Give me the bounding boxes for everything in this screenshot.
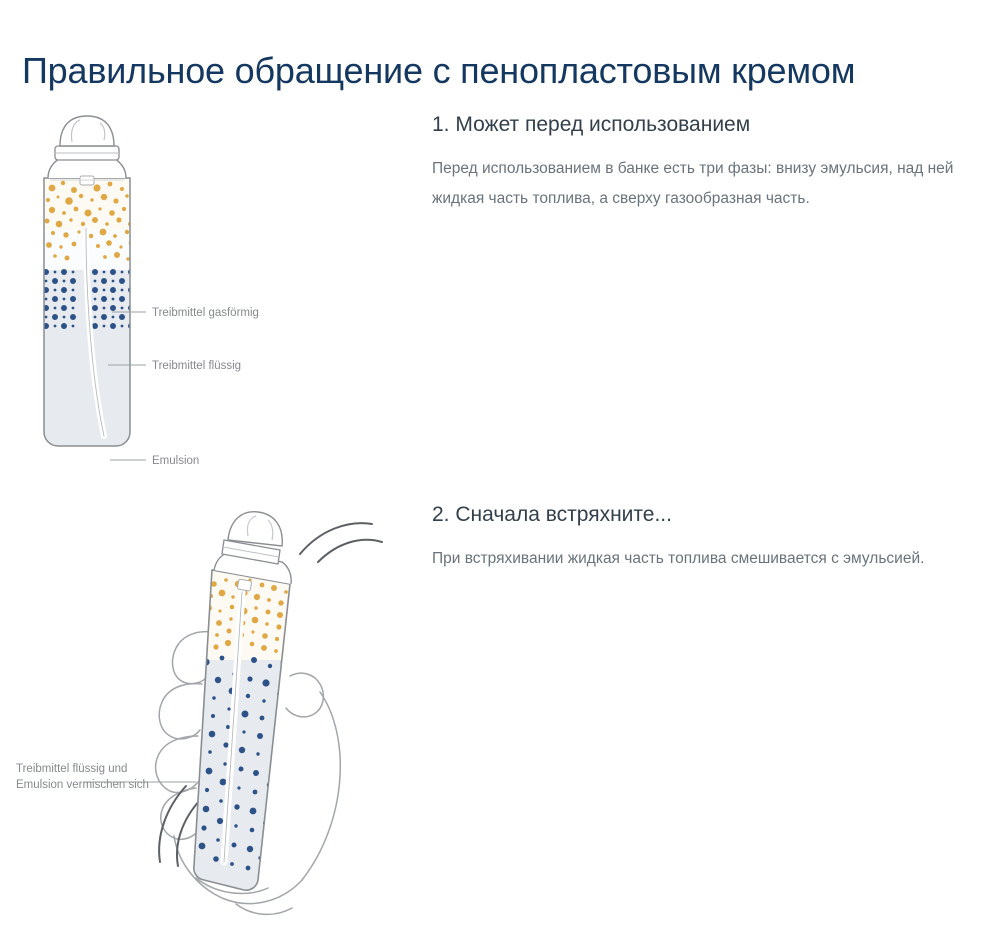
can-cap-dome: [60, 116, 114, 146]
page-title: Правильное обращение с пенопластовым кре…: [22, 50, 982, 91]
step-1-body: Перед использованием в банке есть три фа…: [432, 154, 972, 214]
step-2-heading: 2. Сначала встряхните...: [432, 502, 984, 528]
page-root: Правильное обращение с пенопластовым кре…: [0, 0, 1000, 928]
callout-label-liquid: Treibmittel flüssig: [152, 360, 241, 372]
can-shoulder: [48, 158, 126, 178]
valve-stem-2: [237, 579, 252, 591]
callout-label-mixing-line2: Emulsion vermischen sich: [16, 779, 149, 791]
figure-can-at-rest: Treibmittel gasförmig Treibmittel flüssi…: [0, 100, 420, 470]
motion-arcs-top: [300, 523, 382, 562]
step-2-block: 2. Сначала встряхните... При встряхивани…: [432, 502, 984, 574]
emulsion-fill-region-2: [180, 568, 310, 900]
callout-label-emulsion: Emulsion: [152, 455, 199, 467]
callout-label-mixing-line1: Treibmittel flüssig und: [16, 763, 127, 775]
step-1-heading: 1. Может перед использованием: [432, 112, 984, 138]
step-1-block: 1. Может перед использованием Перед испо…: [432, 112, 984, 215]
step-2-body: При встряхивании жидкая часть топлива см…: [432, 544, 972, 574]
figure-hand-shaking-can: Treibmittel flüssig und Emulsion vermisc…: [0, 480, 420, 928]
callout-label-gas: Treibmittel gasförmig: [152, 307, 259, 319]
